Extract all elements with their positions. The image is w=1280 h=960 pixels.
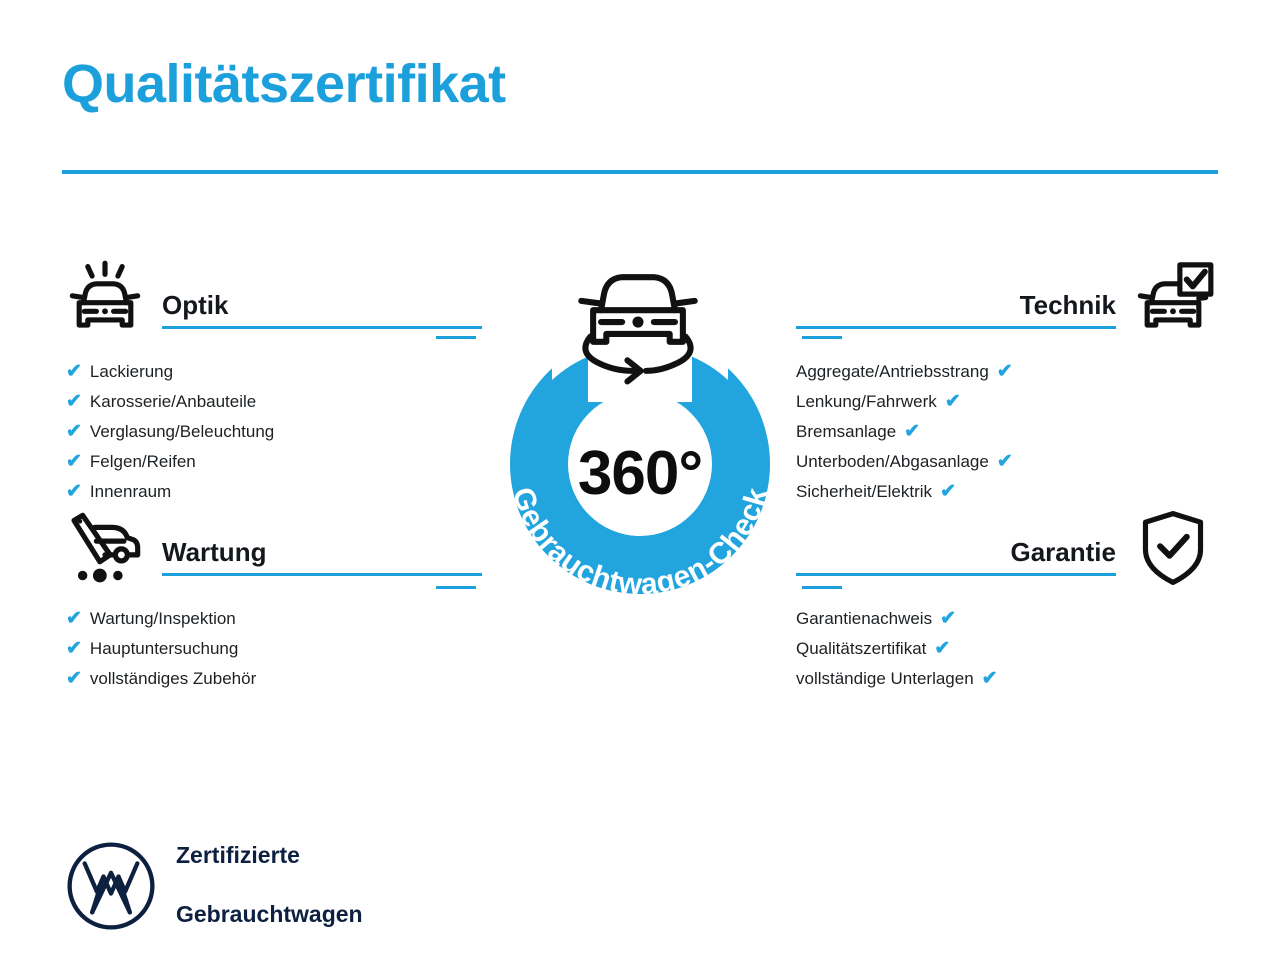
list-item-label: Lackierung [90,357,173,387]
check-icon: ✔ [66,447,82,477]
checklist-optik: ✔Lackierung ✔Karosserie/Anbauteile ✔Verg… [62,357,482,507]
check-icon: ✔ [66,417,82,447]
gebrauchtwagen-check-badge: Gebrauchtwagen-Check 360° [468,252,812,648]
check-icon: ✔ [66,664,82,694]
list-item: ✔vollständige Unterlagen [796,664,1216,694]
list-item: ✔vollständiges Zubehör [62,664,482,694]
section-title-garantie: Garantie [796,539,1116,573]
list-item-label: Garantienachweis [796,604,932,634]
check-icon: ✔ [66,604,82,634]
check-icon: ✔ [66,634,82,664]
title-divider [62,170,1218,174]
section-optik: Optik ✔Lackierung ✔Karosserie/Anbauteile… [62,258,482,507]
vw-footer-logo: Zertifizierte Gebrauchtwagen [64,812,363,959]
list-item: ✔Lenkung/Fahrwerk [796,387,1216,417]
list-item-label: Karosserie/Anbauteile [90,387,256,417]
vw-roundel-icon [64,839,158,933]
check-icon: ✔ [982,664,998,694]
list-item: ✔Wartung/Inspektion [62,604,482,634]
section-wartung: Wartung ✔Wartung/Inspektion ✔Hauptunters… [62,505,482,694]
section-underline [796,326,1116,329]
car-front-checkbox-icon [1130,258,1216,344]
vw-logo-line1: Zertifizierte [176,841,363,870]
section-garantie: Garantie ✔Garantienachweis ✔Qualitätszer… [796,505,1216,694]
checklist-wartung: ✔Wartung/Inspektion ✔Hauptuntersuchung ✔… [62,604,482,694]
list-item-label: Qualitätszertifikat [796,634,926,664]
section-title-wartung: Wartung [162,539,482,573]
list-item: ✔Unterboden/Abgasanlage [796,447,1216,477]
check-icon: ✔ [66,357,82,387]
section-title-technik: Technik [796,292,1116,326]
check-icon: ✔ [945,387,961,417]
list-item-label: Aggregate/Antriebsstrang [796,357,989,387]
check-icon: ✔ [66,477,82,507]
list-item: ✔Felgen/Reifen [62,447,482,477]
section-underline [796,573,1116,576]
shield-check-icon [1130,505,1216,591]
section-title-optik: Optik [162,292,482,326]
list-item: ✔Hauptuntersuchung [62,634,482,664]
list-item-label: Wartung/Inspektion [90,604,236,634]
list-item: ✔Karosserie/Anbauteile [62,387,482,417]
page-title: Qualitätszertifikat [62,55,506,114]
check-icon: ✔ [997,447,1013,477]
list-item-label: Unterboden/Abgasanlage [796,447,989,477]
check-icon: ✔ [997,357,1013,387]
car-front-shine-icon [62,258,148,344]
vw-logo-line2: Gebrauchtwagen [176,900,363,929]
list-item: ✔Sicherheit/Elektrik [796,477,1216,507]
section-underline [162,573,482,576]
list-item-label: vollständige Unterlagen [796,664,974,694]
car-service-wrench-icon [62,505,148,591]
check-icon: ✔ [940,477,956,507]
list-item-label: Felgen/Reifen [90,447,196,477]
section-underline [162,326,482,329]
list-item: ✔Qualitätszertifikat [796,634,1216,664]
section-technik: Technik ✔Aggregate/Antriebsstrang ✔Lenku… [796,258,1216,507]
badge-degrees-label: 360° [468,438,812,509]
check-icon: ✔ [940,604,956,634]
check-icon: ✔ [904,417,920,447]
list-item-label: Lenkung/Fahrwerk [796,387,937,417]
list-item-label: Sicherheit/Elektrik [796,477,932,507]
list-item-label: vollständiges Zubehör [90,664,256,694]
list-item: ✔Aggregate/Antriebsstrang [796,357,1216,387]
list-item: ✔Lackierung [62,357,482,387]
check-icon: ✔ [934,634,950,664]
list-item: ✔Bremsanlage [796,417,1216,447]
list-item: ✔Innenraum [62,477,482,507]
vw-logo-text: Zertifizierte Gebrauchtwagen [176,812,363,959]
list-item-label: Innenraum [90,477,171,507]
checklist-technik: ✔Aggregate/Antriebsstrang ✔Lenkung/Fahrw… [796,357,1216,507]
list-item: ✔Verglasung/Beleuchtung [62,417,482,447]
checklist-garantie: ✔Garantienachweis ✔Qualitätszertifikat ✔… [796,604,1216,694]
check-icon: ✔ [66,387,82,417]
list-item: ✔Garantienachweis [796,604,1216,634]
list-item-label: Verglasung/Beleuchtung [90,417,274,447]
list-item-label: Hauptuntersuchung [90,634,238,664]
certificate-page: Qualitätszertifikat [0,0,1280,960]
